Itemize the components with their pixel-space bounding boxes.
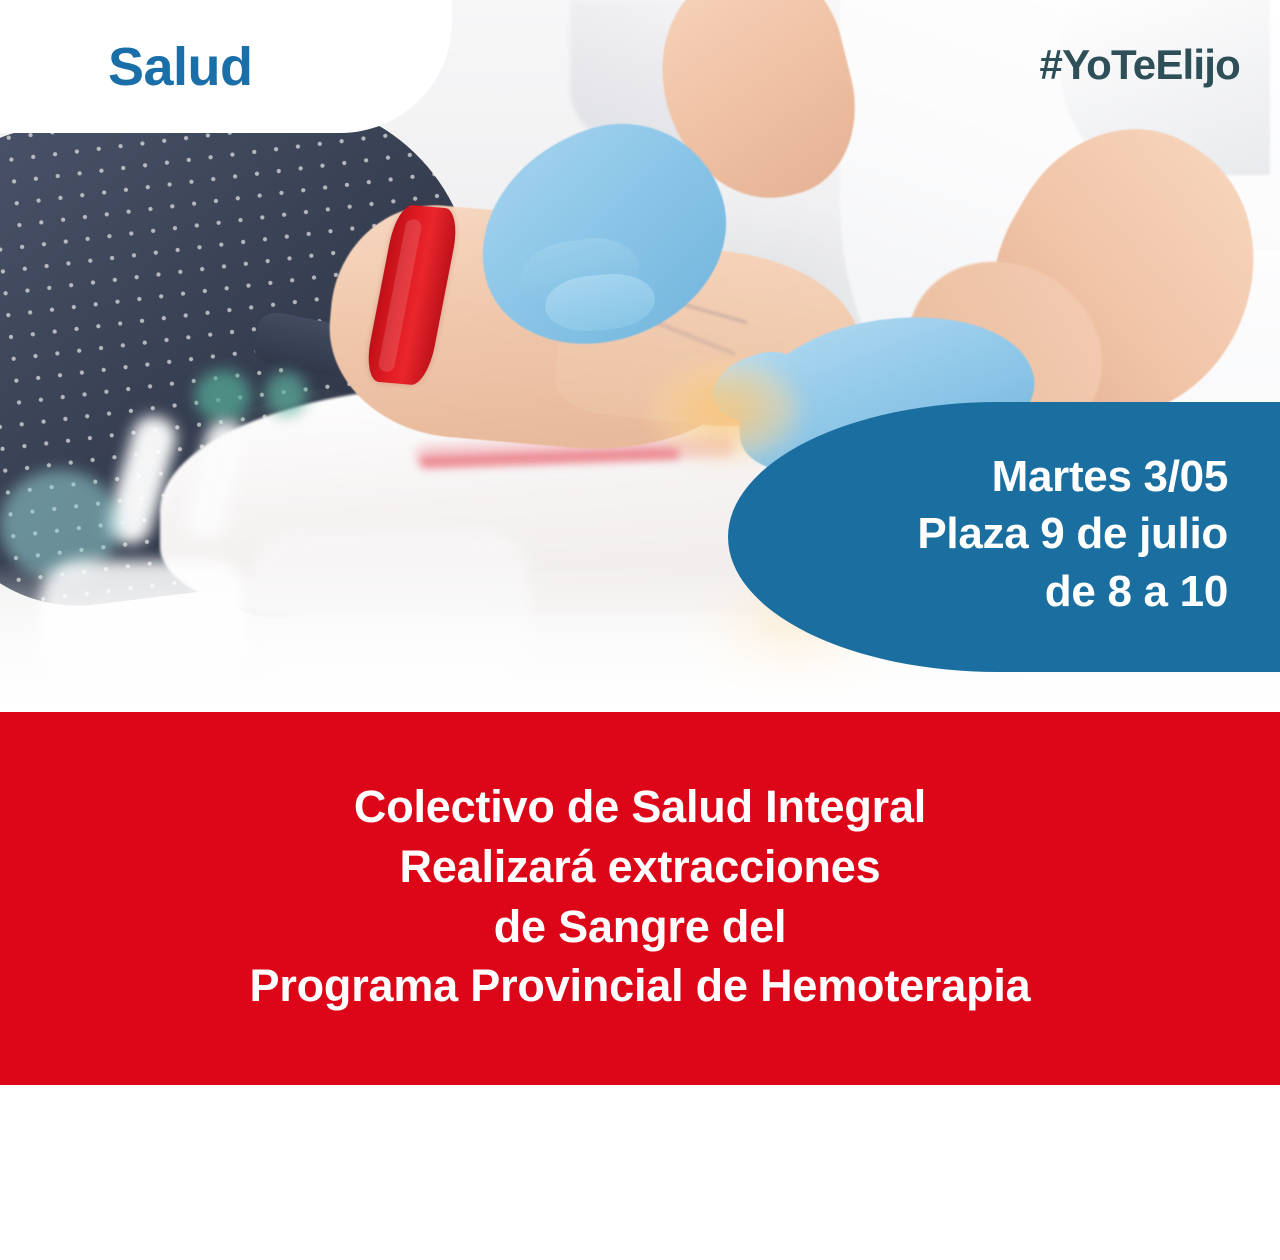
blurred-instrument <box>265 372 307 416</box>
announcement-line: Colectivo de Salud Integral <box>354 777 926 837</box>
blurred-instrument <box>195 370 251 422</box>
campaign-hashtag: #YoTeElijo <box>1040 44 1240 86</box>
announcement-line: Programa Provincial de Hemoterapia <box>250 956 1031 1016</box>
event-date: Martes 3/05 <box>992 448 1228 505</box>
footer-logo-bar <box>0 1085 1280 1260</box>
brand-title-panel: Salud <box>0 0 452 133</box>
poster-root: Salud #YoTeElijo Martes 3/05 Plaza 9 de … <box>0 0 1280 1260</box>
event-place: Plaza 9 de julio <box>917 505 1228 562</box>
announcement-line: de Sangre del <box>494 897 787 957</box>
blurred-foreground-light <box>650 360 800 460</box>
event-time: de 8 a 10 <box>1045 563 1228 620</box>
page-title: Salud <box>108 40 253 94</box>
announcement-banner: Colectivo de Salud Integral Realizará ex… <box>0 712 1280 1085</box>
announcement-line: Realizará extracciones <box>400 837 881 897</box>
event-info-box: Martes 3/05 Plaza 9 de julio de 8 a 10 <box>728 402 1280 672</box>
